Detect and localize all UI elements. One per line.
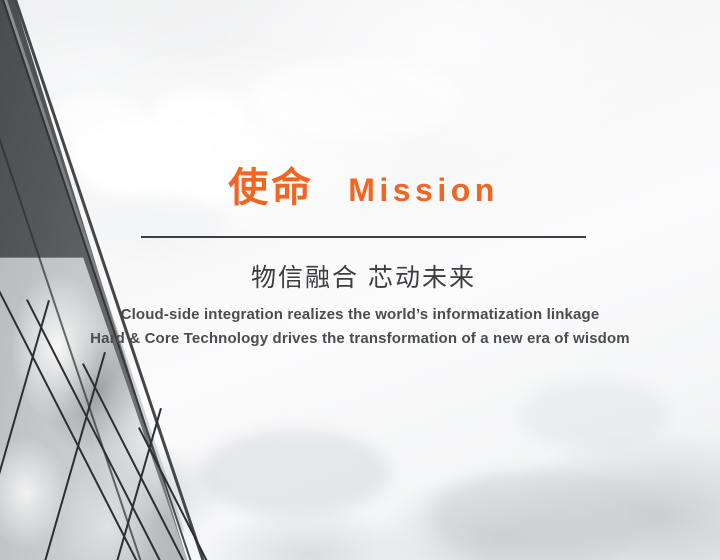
hero-content: 使命 Mission 物信融合 芯动未来 Cloud-side integrat…	[0, 0, 720, 560]
mission-hero-banner: 使命 Mission 物信融合 芯动未来 Cloud-side integrat…	[0, 0, 720, 560]
headline-divider	[141, 236, 586, 238]
headline-chinese: 使命	[228, 168, 314, 208]
hero-headline: 使命 Mission	[141, 168, 586, 208]
subtitle-chinese: 物信融合 芯动未来	[141, 258, 586, 294]
headline-english: Mission	[348, 174, 499, 206]
tagline-block: Cloud-side integration realizes the worl…	[0, 303, 720, 351]
tagline-line-2: Hard & Core Technology drives the transf…	[0, 327, 720, 351]
tagline-line-1: Cloud-side integration realizes the worl…	[0, 303, 720, 327]
